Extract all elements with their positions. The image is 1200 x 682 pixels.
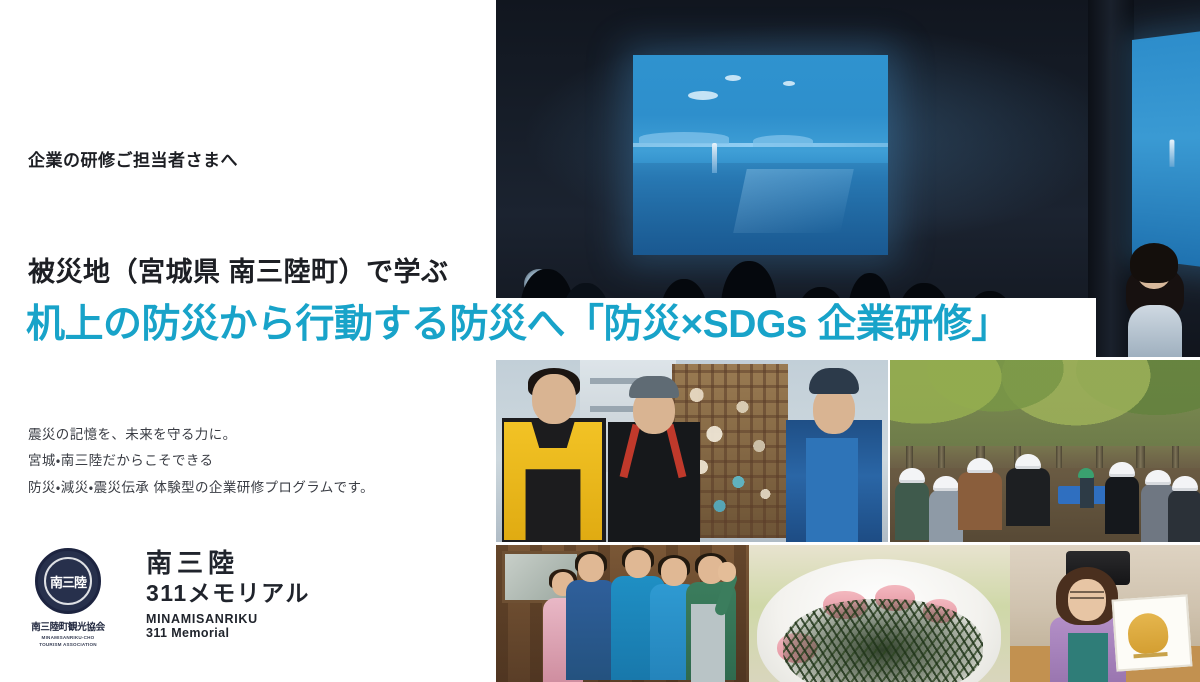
- photo-locals-waving: [496, 545, 749, 682]
- logo-row: 南三陸 南三陸町観光協会 MINAMISANRIKU-CHO TOURISM A…: [24, 548, 310, 648]
- hardhat-participant: [958, 458, 1002, 542]
- photo-seaweed-dish: [749, 545, 1010, 682]
- photo-storyteller: [1010, 545, 1200, 682]
- screen-cloud: [725, 75, 741, 81]
- memorial-kanji: 南三陸: [146, 550, 310, 576]
- body-line: 震災の記憶を、未来を守る力に。: [28, 422, 374, 448]
- logo-tourism-association[interactable]: 南三陸 南三陸町観光協会 MINAMISANRIKU-CHO TOURISM A…: [24, 548, 112, 648]
- tourism-name-en-line2: TOURISM ASSOCIATION: [24, 642, 112, 649]
- fisherman-center: [600, 360, 708, 542]
- tourism-name-en: MINAMISANRIKU-CHO TOURISM ASSOCIATION: [24, 635, 112, 648]
- memorial-roman-line2: 311 Memorial: [146, 626, 310, 642]
- storyteller-face: [1068, 579, 1106, 621]
- tourism-seal-icon: 南三陸: [35, 548, 101, 614]
- kicker-text: 企業の研修ご担当者さまへ: [28, 146, 238, 171]
- screen-hill: [639, 132, 729, 144]
- glasses-icon: [1070, 591, 1104, 599]
- hardhat-participant: [1168, 476, 1200, 542]
- poster-canvas: 企業の研修ご担当者さまへ 被災地（宮城県 南三陸町）で学ぶ 机上の防災から行動す…: [0, 0, 1200, 682]
- memorial-number-jp: 311メモリアル: [146, 579, 310, 608]
- body-copy: 震災の記憶を、未来を守る力に。 宮城・南三陸だからこそできる 防災・減災・震災伝…: [28, 422, 374, 501]
- screen-hill: [753, 135, 813, 147]
- photo-fishermen: [496, 360, 888, 542]
- fisherman-right: [780, 360, 888, 542]
- logo-311-memorial[interactable]: 南三陸 311メモリアル MINAMISANRIKU 311 Memorial: [146, 548, 310, 642]
- main-headline: 机上の防災から行動する防災へ「防災×SDGs 企業研修」: [26, 305, 1010, 344]
- seaweed: [783, 599, 983, 682]
- sub-headline: 被災地（宮城県 南三陸町）で学ぶ: [28, 250, 449, 289]
- waving-hand: [718, 562, 736, 582]
- memorial-roman-line1: MINAMISANRIKU: [146, 612, 310, 626]
- white-bowl: [757, 559, 1001, 682]
- body-line: 防災・減災・震災伝承 体験型の企業研修プログラムです。: [28, 475, 374, 501]
- screen-road: [633, 163, 888, 255]
- hardhat-participant: [1102, 462, 1142, 542]
- theater-side-screen: [1132, 29, 1200, 270]
- illustration-board: [1112, 594, 1193, 671]
- audience-foreground-person: [1126, 245, 1184, 357]
- seal-kanji-label: 南三陸: [50, 572, 86, 591]
- body-line: 宮城・南三陸だからこそできる: [28, 448, 374, 474]
- storyteller-apron: [1068, 633, 1108, 682]
- tourism-name-en-line1: MINAMISANRIKU-CHO: [24, 635, 112, 642]
- tourism-name-jp: 南三陸町観光協会: [24, 619, 112, 633]
- screen-cloud: [783, 81, 795, 86]
- hardhat-participant-far: [1078, 468, 1096, 508]
- screen-cloud: [688, 91, 718, 100]
- photo-forest-workshop: [890, 360, 1200, 542]
- hardhat-participant: [1006, 454, 1050, 542]
- theater-main-screen: [633, 55, 888, 255]
- fisherman-left: [498, 360, 610, 542]
- forest-canopy: [890, 360, 1200, 446]
